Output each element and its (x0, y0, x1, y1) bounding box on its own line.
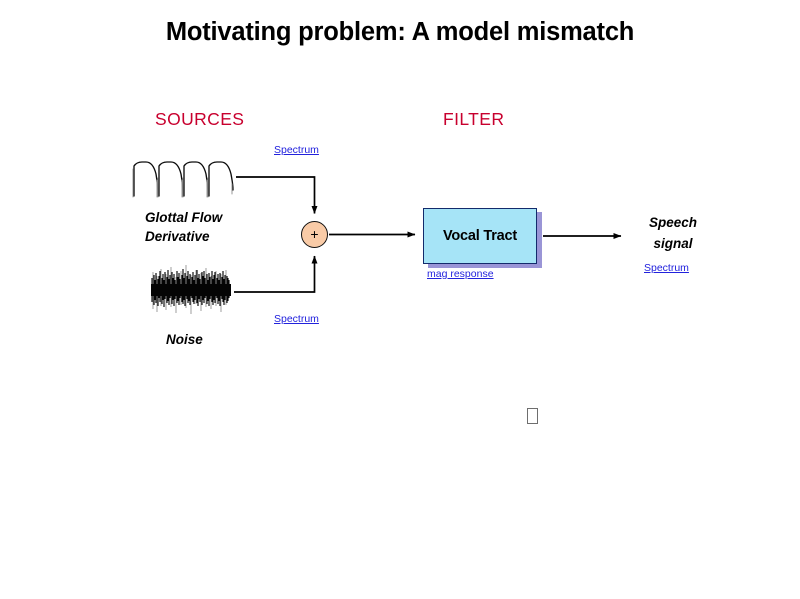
label-speech-signal: Speech signal (630, 212, 716, 254)
vocal-tract-label: Vocal Tract (443, 228, 517, 244)
label-speech-line1: Speech (649, 215, 697, 230)
connector-noise-to-sum (234, 256, 315, 292)
connector-glottal-to-sum (236, 177, 315, 214)
label-glottal-line1: Glottal Flow (145, 210, 222, 225)
page-title: Motivating problem: A model mismatch (0, 18, 800, 47)
connector-lines (0, 0, 800, 599)
section-header-filter: FILTER (443, 109, 504, 130)
label-glottal-line2: Derivative (145, 229, 210, 244)
waveform-noise (150, 262, 234, 316)
vocal-tract-block[interactable]: Vocal Tract (423, 208, 537, 264)
label-glottal-flow-derivative: Glottal Flow Derivative (145, 208, 222, 246)
summation-node[interactable]: + (301, 221, 328, 248)
link-spectrum-glottal[interactable]: Spectrum (274, 144, 319, 156)
slide-canvas: Motivating problem: A model mismatch SOU… (0, 0, 800, 599)
section-header-sources: SOURCES (155, 109, 244, 130)
plus-icon: + (302, 222, 327, 247)
link-spectrum-noise[interactable]: Spectrum (274, 313, 319, 325)
link-spectrum-speech[interactable]: Spectrum (644, 262, 689, 274)
link-mag-response[interactable]: mag response (427, 268, 494, 280)
label-noise: Noise (166, 330, 203, 349)
label-speech-line2: signal (653, 236, 692, 251)
missing-glyph-placeholder (527, 408, 538, 424)
waveform-glottal-flow-derivative (132, 156, 236, 198)
